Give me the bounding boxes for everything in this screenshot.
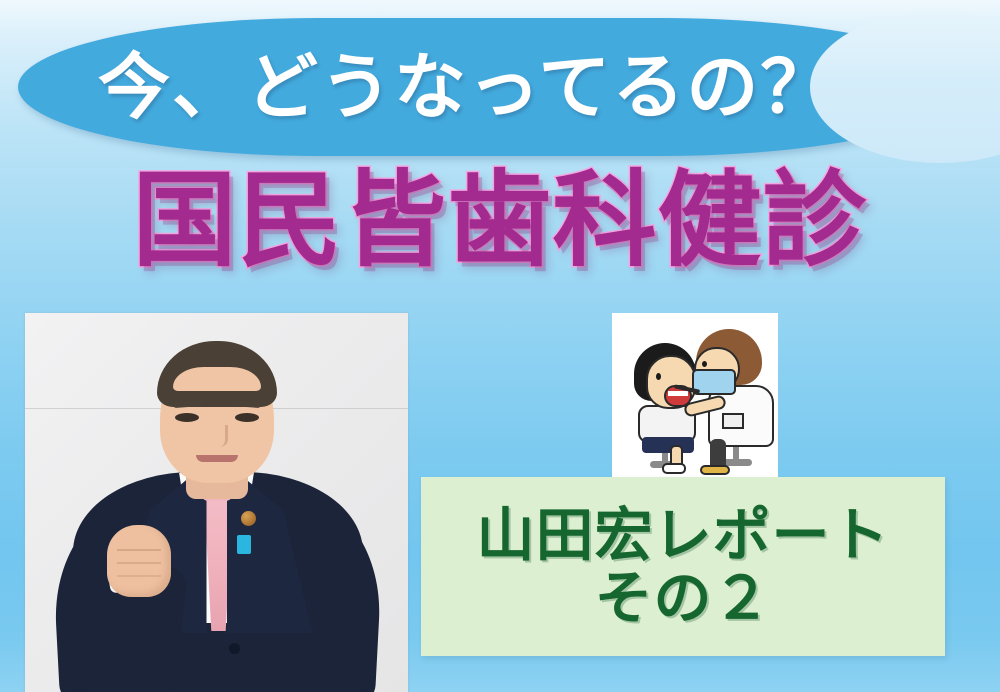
child-teeth [668, 391, 688, 396]
lapel-pin-icon [237, 535, 251, 554]
dentist-coat-pocket [722, 413, 744, 429]
report-caption-box: 山田宏レポート その２ [421, 477, 945, 656]
portrait-hair [157, 341, 277, 407]
ribbon-headline-text: 今、どうなってるの？ [18, 18, 962, 156]
portrait-fist [107, 525, 171, 597]
portrait-suit-button [229, 643, 240, 654]
child-shoe [662, 463, 686, 474]
lapel-badge-icon [241, 511, 256, 526]
child-eye [656, 373, 661, 380]
portrait-nose [209, 425, 228, 447]
caption-line-1: 山田宏レポート [476, 504, 889, 567]
portrait-eye-left [175, 413, 199, 422]
header-ribbon: 今、どうなってるの？ [18, 18, 962, 156]
page-title: 国民皆歯科健診 [0, 168, 1000, 272]
portrait-mouth [196, 455, 238, 462]
child-shorts [642, 437, 694, 453]
dental-checkup-illustration [612, 313, 778, 477]
caption-line-2: その２ [594, 567, 771, 630]
poster-root: 今、どうなってるの？ 国民皆歯科健診 [0, 0, 1000, 692]
dentist-shoe [700, 465, 730, 475]
dentist-eye [702, 361, 707, 367]
portrait-photo [25, 313, 408, 692]
portrait-eye-right [235, 413, 259, 422]
